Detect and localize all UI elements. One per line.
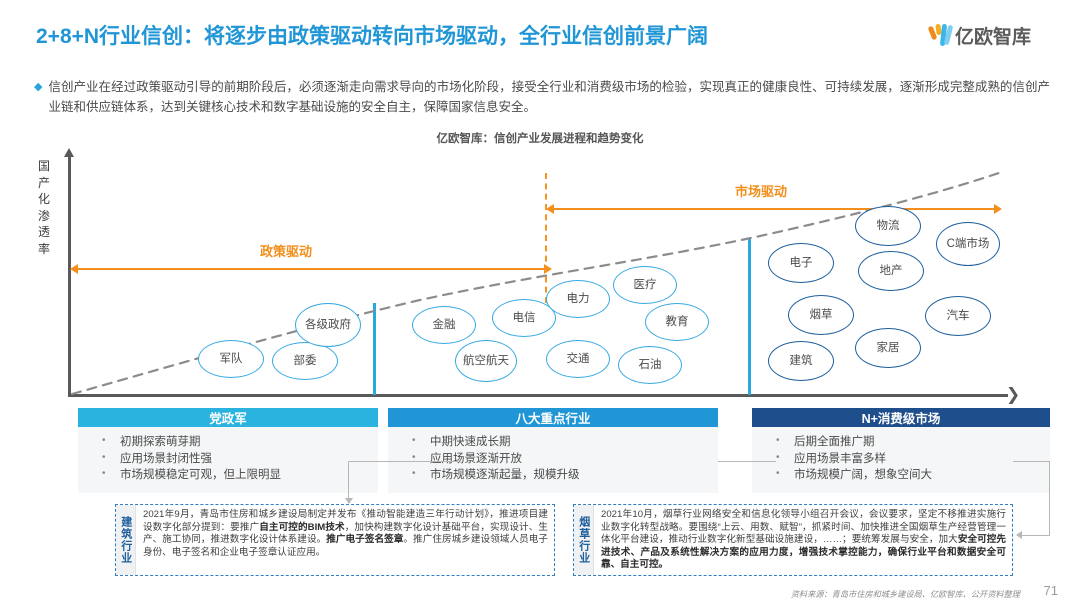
brand-logo: 亿欧智库 [930,22,1031,49]
list-item: 市场规模稳定可观，但上限明显 [78,467,378,484]
list-item: 市场规模逐渐起量，规模升级 [388,467,718,484]
bubble-label: 部委 [294,355,317,368]
driver-split-divider [545,173,547,303]
callout-text-tobacco: 2021年10月，烟草行业网络安全和信息化领导小组召开会议，会议要求，坚定不移推… [594,505,1012,575]
bubble-label: 各级政府 [305,319,351,332]
bubble-label: 金融 [433,319,456,332]
bubble-label: 电力 [567,293,590,306]
list-item: 中期快速成长期 [388,434,718,451]
policy-arrow-left-cap [70,264,78,274]
bubble-label: 家居 [877,342,900,355]
stage-header: 八大重点行业 [388,408,718,427]
connector-h-middle [348,461,458,462]
market-arrow-left-cap [546,204,554,214]
stage-card-party-gov-army: 党政军 初期探索萌芽期 应用场景封闭性强 市场规模稳定可观，但上限明显 [78,408,378,493]
list-item: 初期探索萌芽期 [78,434,378,451]
policy-arrow-line [78,268,544,270]
bubble-tobacco[interactable]: 烟草 [788,295,854,335]
bubble-automobile[interactable]: 汽车 [925,296,991,336]
bubble-education[interactable]: 教育 [645,303,709,341]
stage-body: 初期探索萌芽期 应用场景封闭性强 市场规模稳定可观，但上限明显 [78,427,378,493]
stage-header: 党政军 [78,408,378,427]
bubble-label: 交通 [567,353,590,366]
page-title: 2+8+N行业信创：将逐步由政策驱动转向市场驱动，全行业信创前景广阔 [36,20,708,50]
bubble-label: 石油 [639,359,662,372]
bubble-realestate[interactable]: 地产 [858,251,924,291]
list-item: 市场规模广阔，想象空间大 [752,467,1050,484]
page-number: 71 [1044,583,1058,598]
bubble-label: 汽车 [947,310,970,323]
stage-title: N+消费级市场 [862,408,941,427]
chart-canvas: 国产化渗透率 ❯ 政策驱动 市场驱动 军队 部委 各级政府 [0,148,1080,408]
bubble-label: 建筑 [790,355,813,368]
bubble-government[interactable]: 各级政府 [295,303,361,347]
source-note: 资料来源：青岛市住房和城乡建设局、亿欧智库、公开资料整理 [791,588,1020,600]
bubble-power[interactable]: 电力 [546,280,610,318]
stage-card-eight-industries: 八大重点行业 中期快速成长期 应用场景逐渐开放 市场规模逐渐起量，规模升级 [388,408,718,493]
bubble-medical[interactable]: 医疗 [613,266,677,304]
bubble-label: 电信 [513,312,536,325]
bubble-furniture[interactable]: 家居 [855,328,921,368]
connector-arrow-left [1016,531,1022,539]
list-item: 应用场景封闭性强 [78,451,378,468]
bubble-label: 教育 [666,316,689,329]
market-arrow-line [554,208,994,210]
connector-v-right [1049,461,1050,536]
bubble-label: 医疗 [634,279,657,292]
bubble-electronics[interactable]: 电子 [768,243,834,283]
stage-title: 党政军 [209,408,247,427]
stage-title: 八大重点行业 [515,408,590,427]
connector-h-right-out [1013,461,1050,462]
callout-tag-tobacco: 烟草行业 [574,505,594,575]
bubble-ministry[interactable]: 部委 [272,342,338,380]
list-item: 应用场景逐渐开放 [388,451,718,468]
yiou-leaf-icon [930,24,952,48]
bubble-finance[interactable]: 金融 [412,306,476,344]
callout-tag-label: 建筑行业 [119,516,132,564]
lead-paragraph-text: 信创产业在经过政策驱动引导的前期阶段后，必须逐渐走向需求导向的市场化阶段，接受全… [48,78,1050,117]
bubble-aerospace[interactable]: 航空航天 [455,340,517,382]
bubble-logistics[interactable]: 物流 [855,206,921,246]
bubble-label: 军队 [220,353,243,366]
market-arrow-right-cap [994,204,1002,214]
stage-body: 后期全面推广期 应用场景丰富多样 市场规模广阔，想象空间大 [752,427,1050,493]
callout-tag-construction: 建筑行业 [116,505,136,575]
callout-text-construction: 2021年9月，青岛市住房和城乡建设局制定并发布《推动智能建造三年行动计划》，推… [136,505,554,575]
stage-card-n-consumer: N+消费级市场 后期全面推广期 应用场景丰富多样 市场规模广阔，想象空间大 [752,408,1050,493]
bubble-label: 航空航天 [463,355,509,368]
bubble-label: 电子 [790,257,813,270]
brand-name: 亿欧智库 [955,22,1031,49]
callout-tobacco-industry: 烟草行业 2021年10月，烟草行业网络安全和信息化领导小组召开会议，会议要求，… [573,504,1013,576]
bubble-label: 烟草 [810,309,833,322]
stage-body: 中期快速成长期 应用场景逐渐开放 市场规模逐渐起量，规模升级 [388,427,718,493]
lead-paragraph: ◆ 信创产业在经过政策驱动引导的前期阶段后，必须逐渐走向需求导向的市场化阶段，接… [34,78,1050,117]
driver-label-market: 市场驱动 [735,181,787,200]
list-item: 应用场景丰富多样 [752,451,1050,468]
bubble-transport[interactable]: 交通 [546,340,610,378]
bubble-label: 物流 [877,220,900,233]
bubble-telecom[interactable]: 电信 [492,299,556,337]
slide-root: 2+8+N行业信创：将逐步由政策驱动转向市场驱动，全行业信创前景广阔 亿欧智库 … [0,0,1080,608]
list-item: 后期全面推广期 [752,434,1050,451]
bubble-label: 地产 [880,265,903,278]
bullet-diamond-icon: ◆ [34,78,42,117]
callout-construction-industry: 建筑行业 2021年9月，青岛市住房和城乡建设局制定并发布《推动智能建造三年行动… [115,504,555,576]
bubble-army[interactable]: 军队 [198,340,264,378]
bubble-label: C端市场 [947,238,990,251]
callout-tag-label: 烟草行业 [577,516,590,564]
bubble-construction[interactable]: 建筑 [768,341,834,381]
chart-title: 亿欧智库：信创产业发展进程和趋势变化 [0,130,1080,146]
stage-header: N+消费级市场 [752,408,1050,427]
connector-h-right-in [718,461,776,462]
bubble-consumer-market[interactable]: C端市场 [936,222,1000,266]
connector-h-right-bottom [1022,535,1050,536]
bubble-oil[interactable]: 石油 [618,346,682,384]
driver-label-policy: 政策驱动 [260,241,312,260]
connector-v-middle [348,461,349,499]
